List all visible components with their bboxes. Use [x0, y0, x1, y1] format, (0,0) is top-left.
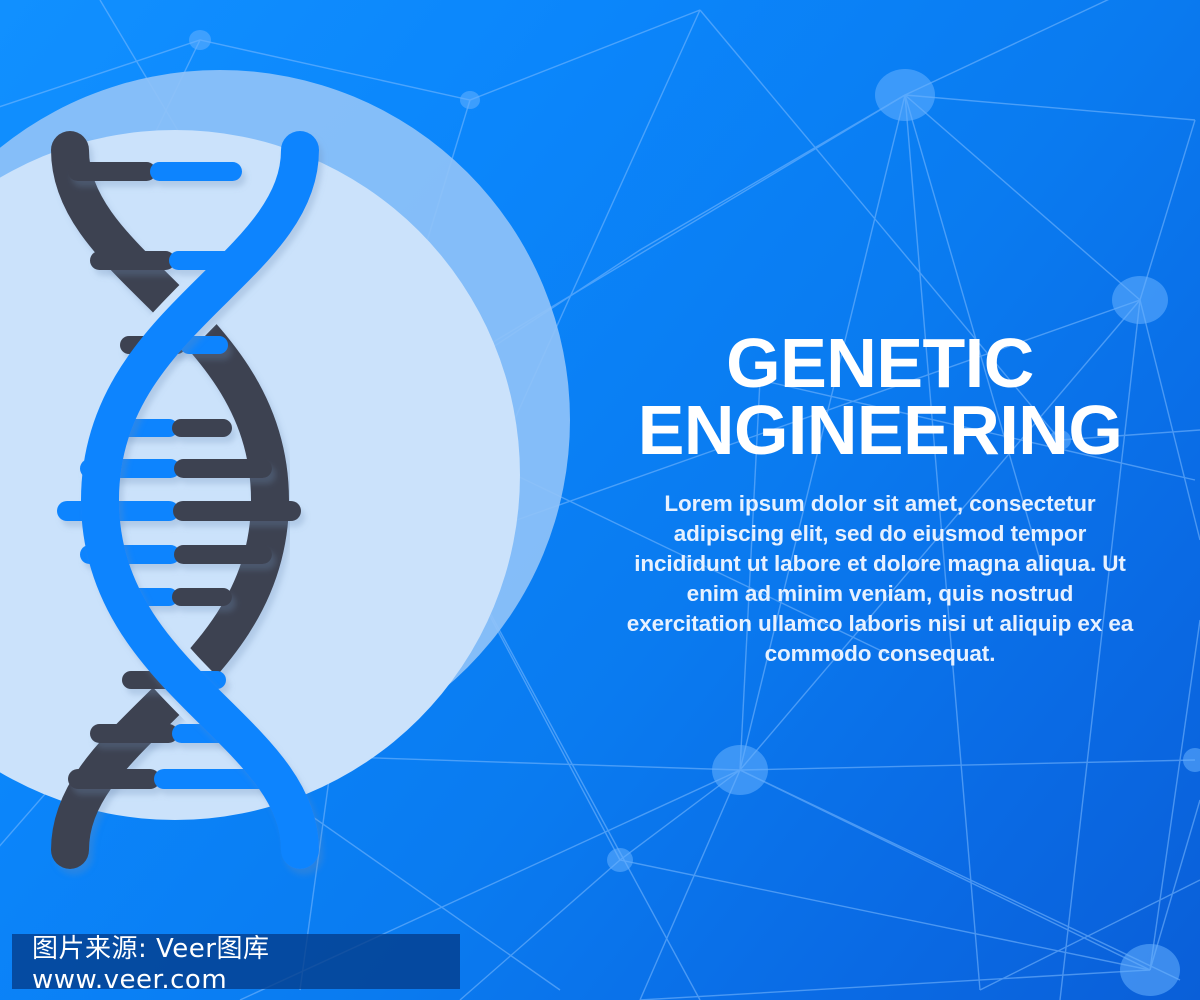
- title-line-2: ENGINEERING: [625, 397, 1135, 464]
- dna-double-helix-icon: [0, 120, 400, 880]
- title-line-1: GENETIC: [625, 330, 1135, 397]
- poster-canvas: GENETIC ENGINEERING Lorem ipsum dolor si…: [0, 0, 1200, 1000]
- text-block: GENETIC ENGINEERING Lorem ipsum dolor si…: [625, 330, 1135, 669]
- watermark-text: 图片来源: Veer图库 www.veer.com: [12, 928, 460, 995]
- dna-rung: [118, 419, 232, 437]
- body-paragraph: Lorem ipsum dolor sit amet, consectetur …: [625, 489, 1135, 669]
- page-title: GENETIC ENGINEERING: [625, 330, 1135, 463]
- watermark-banner: 图片来源: Veer图库 www.veer.com: [12, 934, 460, 989]
- dna-rung: [68, 162, 242, 181]
